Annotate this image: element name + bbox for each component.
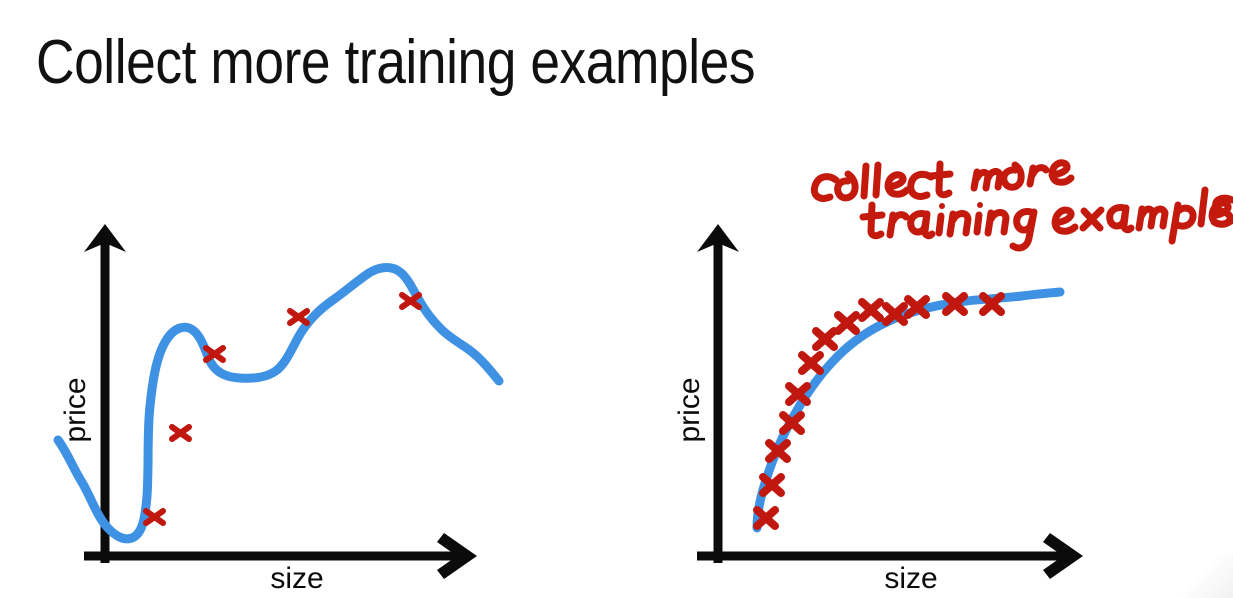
handwritten-annotation (814, 163, 1232, 248)
marker-x (402, 295, 419, 307)
marker-x (763, 477, 781, 493)
marker-x (783, 415, 801, 431)
left-overfit-curve (58, 268, 499, 539)
right-x-axis (697, 533, 1083, 579)
marker-x (862, 302, 880, 318)
right-smooth-curve (757, 292, 1060, 528)
marker-x (769, 443, 787, 459)
marker-x (816, 331, 834, 347)
marker-x (802, 355, 820, 371)
marker-x (983, 296, 1001, 312)
right-chart: price size (673, 224, 1083, 595)
left-ylabel: price (59, 377, 92, 442)
left-xlabel: size (270, 562, 323, 595)
marker-x (146, 511, 163, 523)
slide-canvas: Collect more training examples (0, 0, 1233, 598)
marker-x (172, 427, 189, 439)
page-title: Collect more training examples (36, 30, 755, 95)
marker-x (757, 510, 775, 526)
right-xlabel: size (884, 562, 937, 595)
marker-x (908, 299, 926, 315)
left-training-markers (146, 295, 419, 523)
marker-x (946, 296, 964, 312)
right-ylabel: price (673, 377, 706, 442)
marker-x (789, 386, 807, 402)
marker-x (290, 311, 307, 323)
annotation-line-1 (814, 163, 1071, 199)
right-y-axis (697, 224, 739, 563)
corner-shadow (1141, 554, 1233, 598)
marker-x (886, 306, 904, 322)
right-training-markers (757, 296, 1001, 526)
marker-x (206, 348, 223, 360)
left-y-axis (84, 224, 126, 563)
annotation-line-2 (863, 190, 1232, 248)
left-chart: price size (58, 224, 499, 595)
left-x-axis (84, 533, 477, 579)
marker-x (838, 315, 856, 331)
